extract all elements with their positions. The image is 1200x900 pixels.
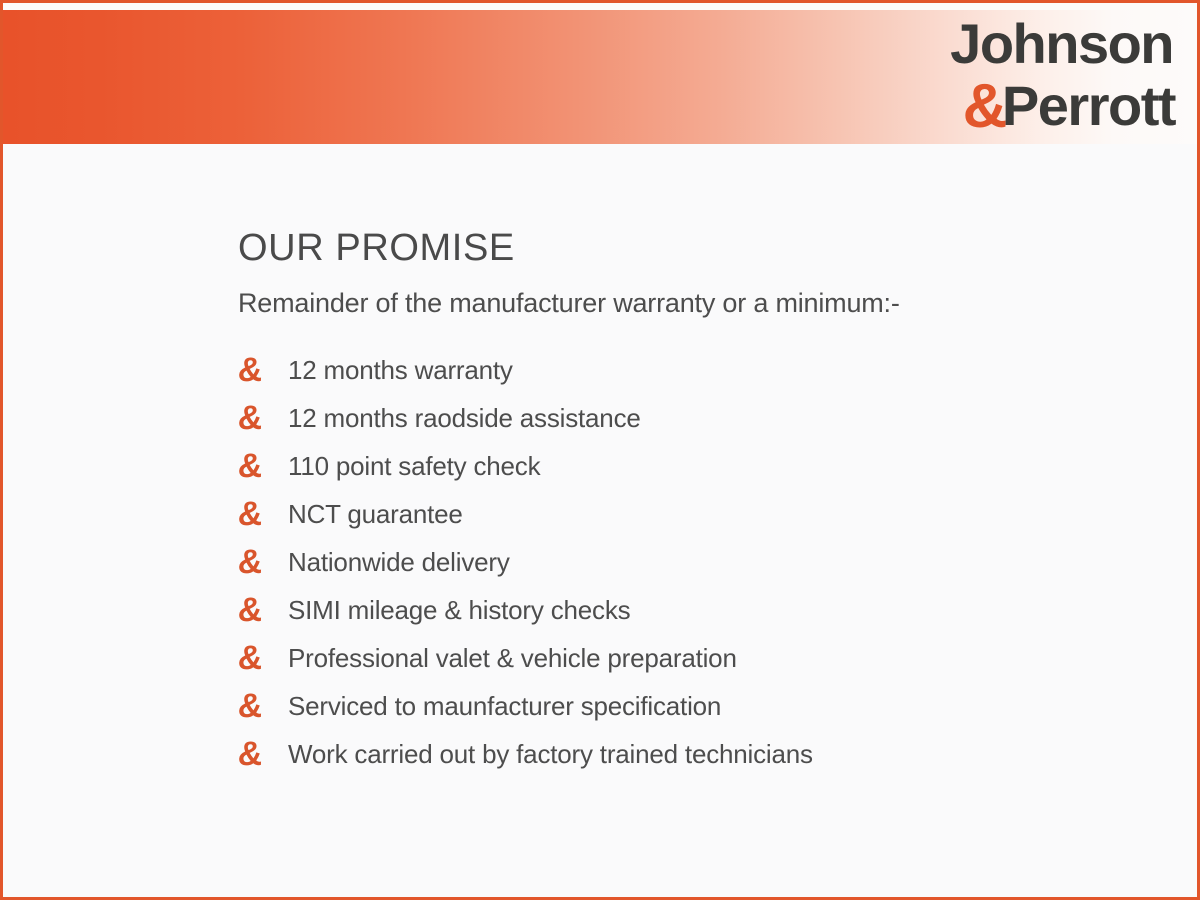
ampersand-bullet-icon: & bbox=[237, 593, 289, 627]
ampersand-bullet-icon: & bbox=[237, 689, 289, 723]
list-item: & 12 months raodside assistance bbox=[238, 394, 1197, 442]
list-item-label: Serviced to maunfacturer specification bbox=[288, 690, 721, 722]
list-item-label: Nationwide delivery bbox=[288, 546, 510, 578]
logo-text-perrott: Perrott bbox=[1002, 76, 1175, 136]
promise-content: OUR PROMISE Remainder of the manufacture… bbox=[3, 144, 1197, 897]
list-item-label: Professional valet & vehicle preparation bbox=[288, 642, 737, 674]
list-item: & 110 point safety check bbox=[238, 442, 1197, 490]
list-item-label: Work carried out by factory trained tech… bbox=[288, 738, 813, 770]
page-title: OUR PROMISE bbox=[238, 226, 1197, 270]
list-item: & 12 months warranty bbox=[238, 346, 1197, 394]
logo-text-johnson: Johnson bbox=[875, 13, 1175, 75]
list-item-label: 12 months warranty bbox=[288, 354, 513, 386]
promise-card: Johnson &Perrott OUR PROMISE Remainder o… bbox=[0, 0, 1200, 900]
ampersand-bullet-icon: & bbox=[237, 545, 289, 579]
list-item: & Serviced to maunfacturer specification bbox=[238, 682, 1197, 730]
logo-line-perrott: &Perrott bbox=[875, 75, 1175, 136]
list-item: & Work carried out by factory trained te… bbox=[238, 730, 1197, 778]
ampersand-bullet-icon: & bbox=[237, 737, 289, 771]
ampersand-bullet-icon: & bbox=[237, 401, 289, 435]
promise-subtitle: Remainder of the manufacturer warranty o… bbox=[238, 286, 1197, 320]
ampersand-bullet-icon: & bbox=[237, 641, 289, 675]
ampersand-bullet-icon: & bbox=[237, 449, 289, 483]
list-item-label: NCT guarantee bbox=[288, 498, 463, 530]
promise-list: & 12 months warranty & 12 months raodsid… bbox=[238, 346, 1197, 778]
list-item-label: 12 months raodside assistance bbox=[288, 402, 641, 434]
list-item: & Nationwide delivery bbox=[238, 538, 1197, 586]
ampersand-bullet-icon: & bbox=[237, 497, 289, 531]
top-spacer bbox=[3, 3, 1197, 10]
list-item: & SIMI mileage & history checks bbox=[238, 586, 1197, 634]
list-item: & Professional valet & vehicle preparati… bbox=[238, 634, 1197, 682]
ampersand-bullet-icon: & bbox=[237, 353, 289, 387]
johnson-perrott-logo: Johnson &Perrott bbox=[875, 13, 1175, 143]
list-item: & NCT guarantee bbox=[238, 490, 1197, 538]
list-item-label: SIMI mileage & history checks bbox=[288, 594, 630, 626]
ampersand-icon: & bbox=[963, 77, 1006, 137]
list-item-label: 110 point safety check bbox=[288, 450, 540, 482]
